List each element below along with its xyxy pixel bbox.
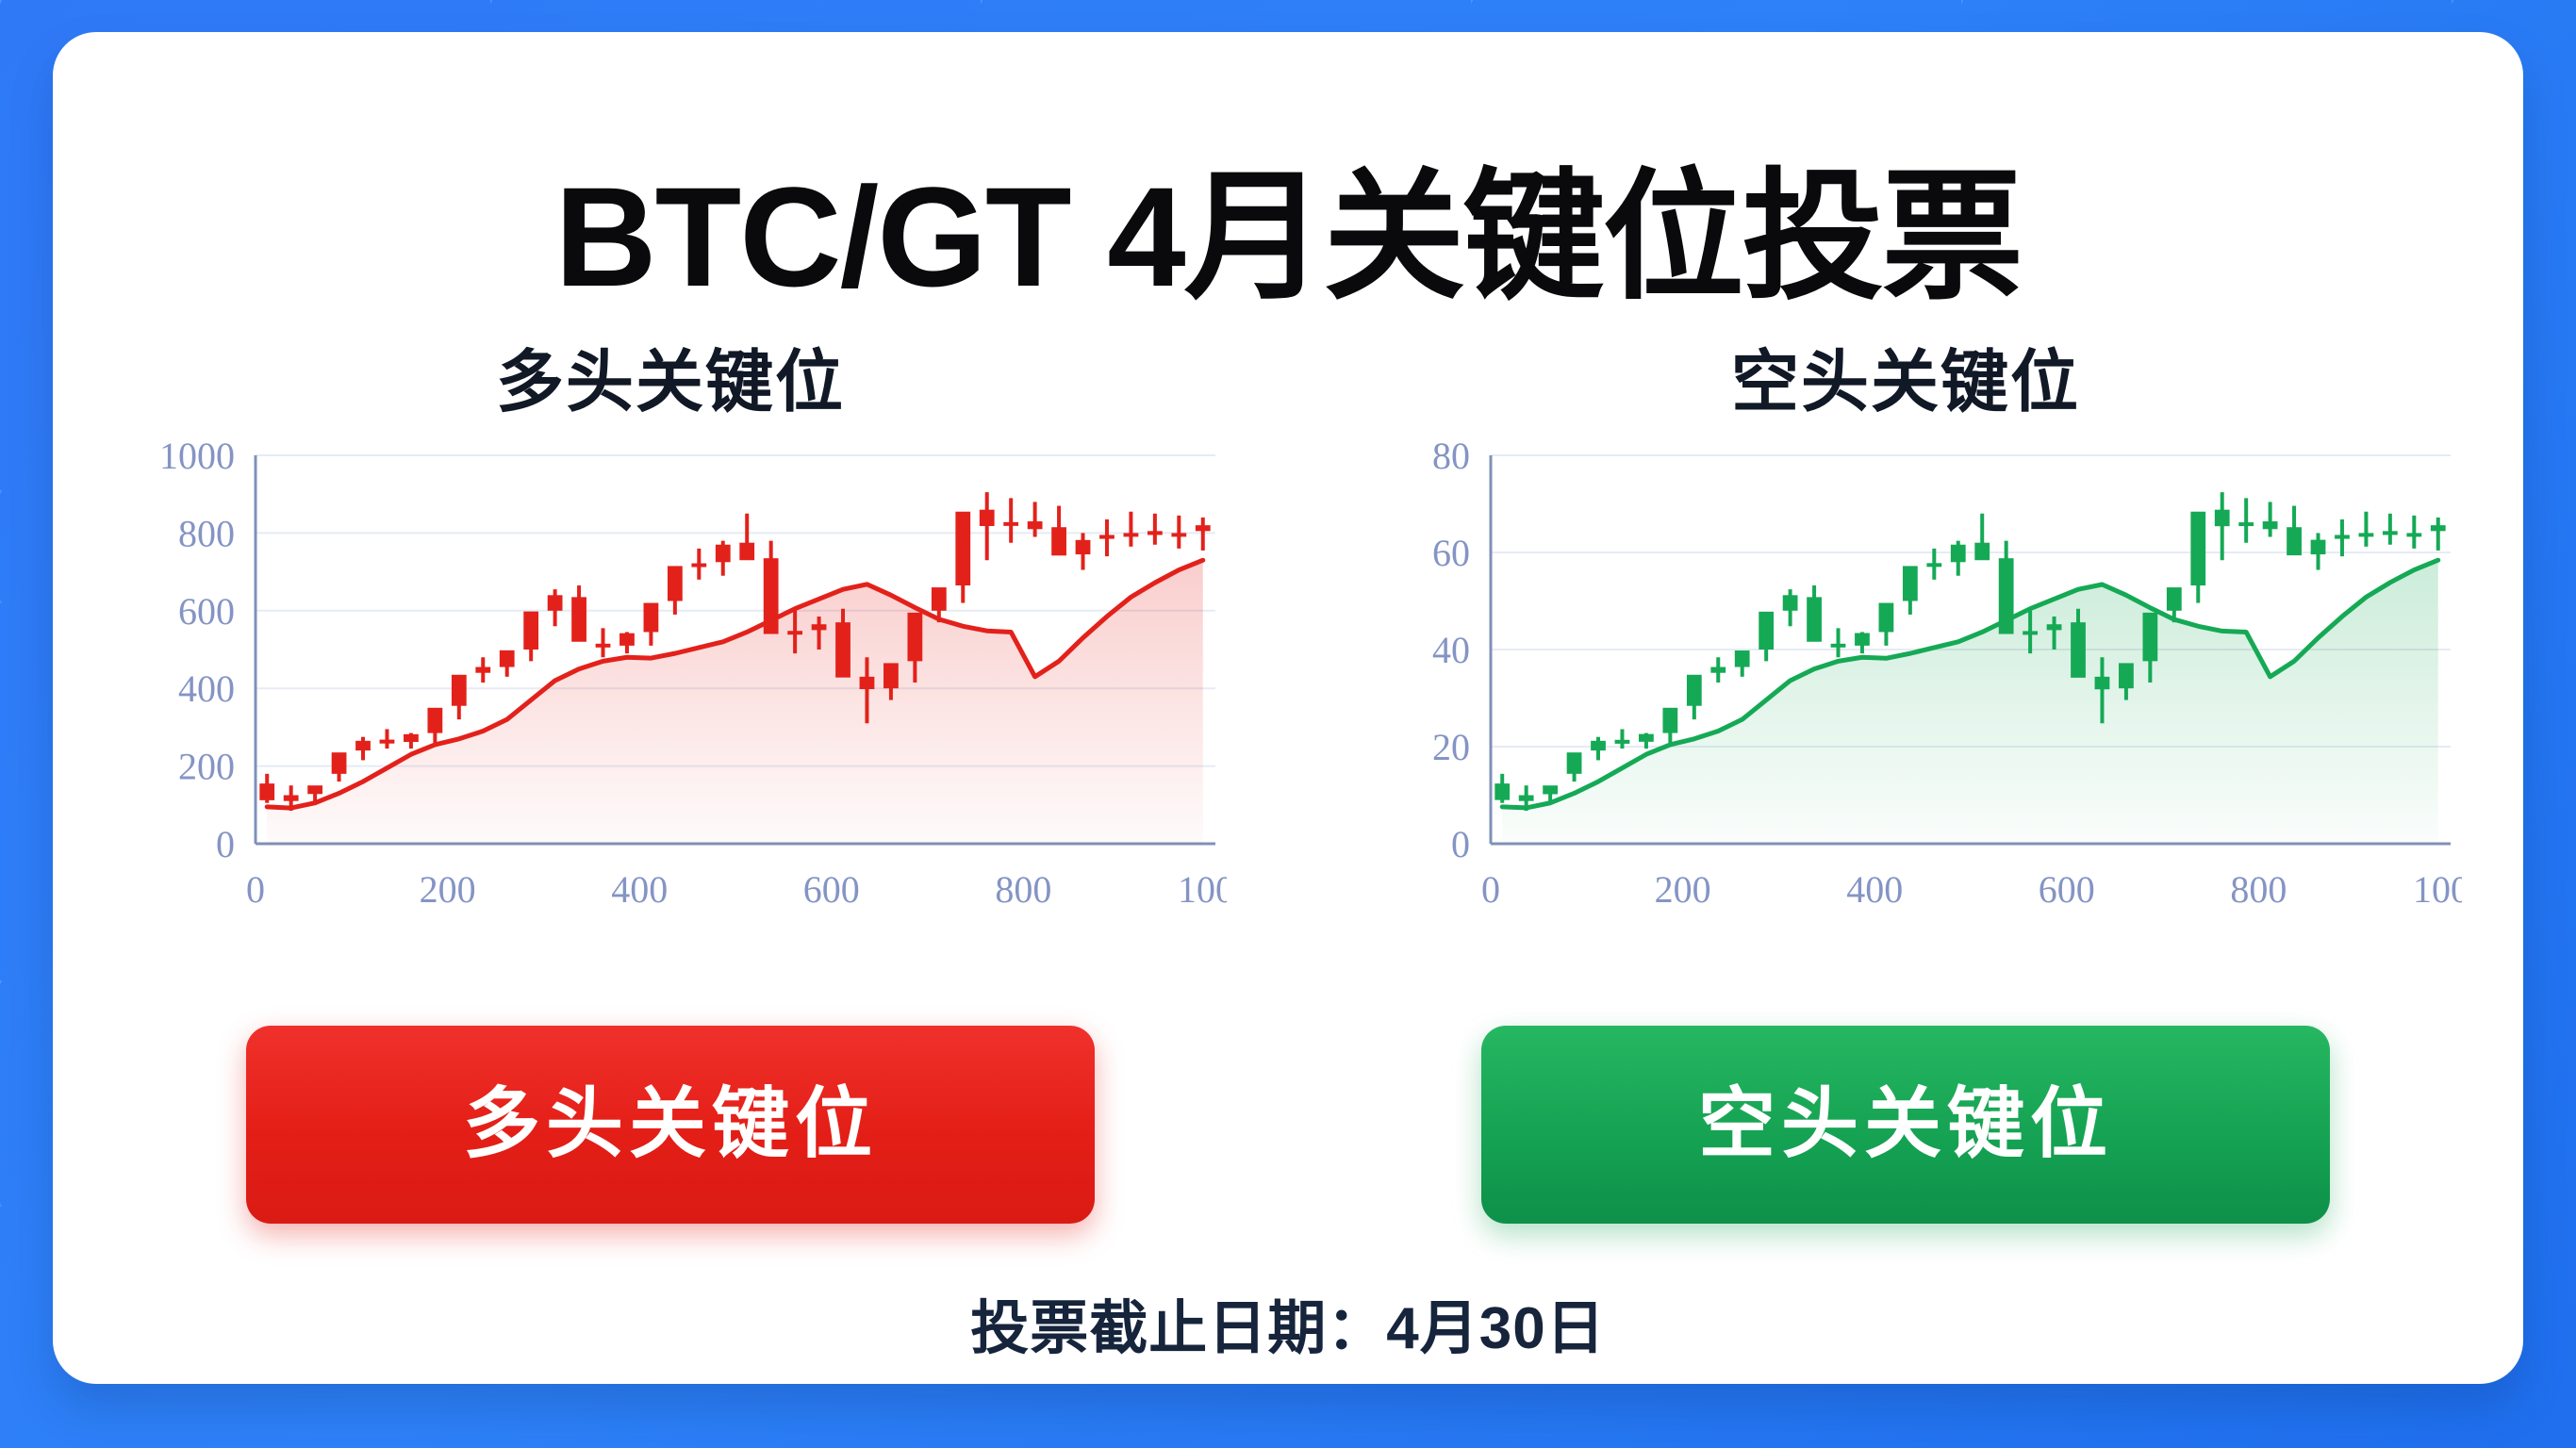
svg-text:40: 40 (1432, 629, 1470, 671)
svg-text:0: 0 (246, 868, 265, 911)
svg-text:60: 60 (1432, 532, 1470, 574)
vote-short-cell: 空头关键位 (1288, 1026, 2523, 1224)
vote-long-button[interactable]: 多头关键位 (246, 1026, 1095, 1224)
svg-text:200: 200 (1655, 868, 1711, 911)
svg-text:600: 600 (178, 590, 235, 633)
svg-text:0: 0 (216, 823, 235, 865)
svg-text:400: 400 (611, 868, 668, 911)
charts-row: 多头关键位 0200400600800100002004006008001000… (53, 326, 2523, 929)
svg-text:400: 400 (178, 667, 235, 710)
svg-text:80: 80 (1432, 438, 1470, 477)
svg-text:800: 800 (2230, 868, 2287, 911)
svg-text:600: 600 (2039, 868, 2095, 911)
panel-long: 多头关键位 0200400600800100002004006008001000 (53, 326, 1288, 929)
vote-deadline: 投票截止日期：4月30日 (53, 1280, 2523, 1365)
svg-text:800: 800 (995, 868, 1051, 911)
chart-subtitle-long: 多头关键位 (53, 326, 1288, 425)
svg-text:20: 20 (1432, 726, 1470, 768)
svg-text:200: 200 (178, 746, 235, 788)
svg-text:1000: 1000 (2413, 868, 2462, 911)
poster-card: BTC/GT 4月关键位投票 多头关键位 0200400600800100002… (53, 32, 2523, 1384)
svg-text:400: 400 (1846, 868, 1903, 911)
svg-text:1000: 1000 (1178, 868, 1227, 911)
svg-text:600: 600 (803, 868, 860, 911)
svg-text:0: 0 (1451, 823, 1470, 865)
vote-buttons-row: 多头关键位 空头关键位 (53, 1026, 2523, 1224)
vote-long-cell: 多头关键位 (53, 1026, 1288, 1224)
chart-subtitle-short: 空头关键位 (1288, 326, 2523, 425)
candlestick-chart-short: 02040608002004006008001000 (1349, 438, 2462, 929)
svg-text:1000: 1000 (159, 438, 235, 477)
svg-text:800: 800 (178, 512, 235, 554)
page-title: BTC/GT 4月关键位投票 (53, 123, 2523, 327)
vote-short-button[interactable]: 空头关键位 (1481, 1026, 2330, 1224)
svg-text:200: 200 (420, 868, 476, 911)
panel-short: 空头关键位 02040608002004006008001000 (1288, 326, 2523, 929)
candlestick-chart-long: 0200400600800100002004006008001000 (114, 438, 1227, 929)
poster-background: BTC/GT 4月关键位投票 多头关键位 0200400600800100002… (0, 0, 2576, 1448)
svg-text:0: 0 (1481, 868, 1500, 911)
